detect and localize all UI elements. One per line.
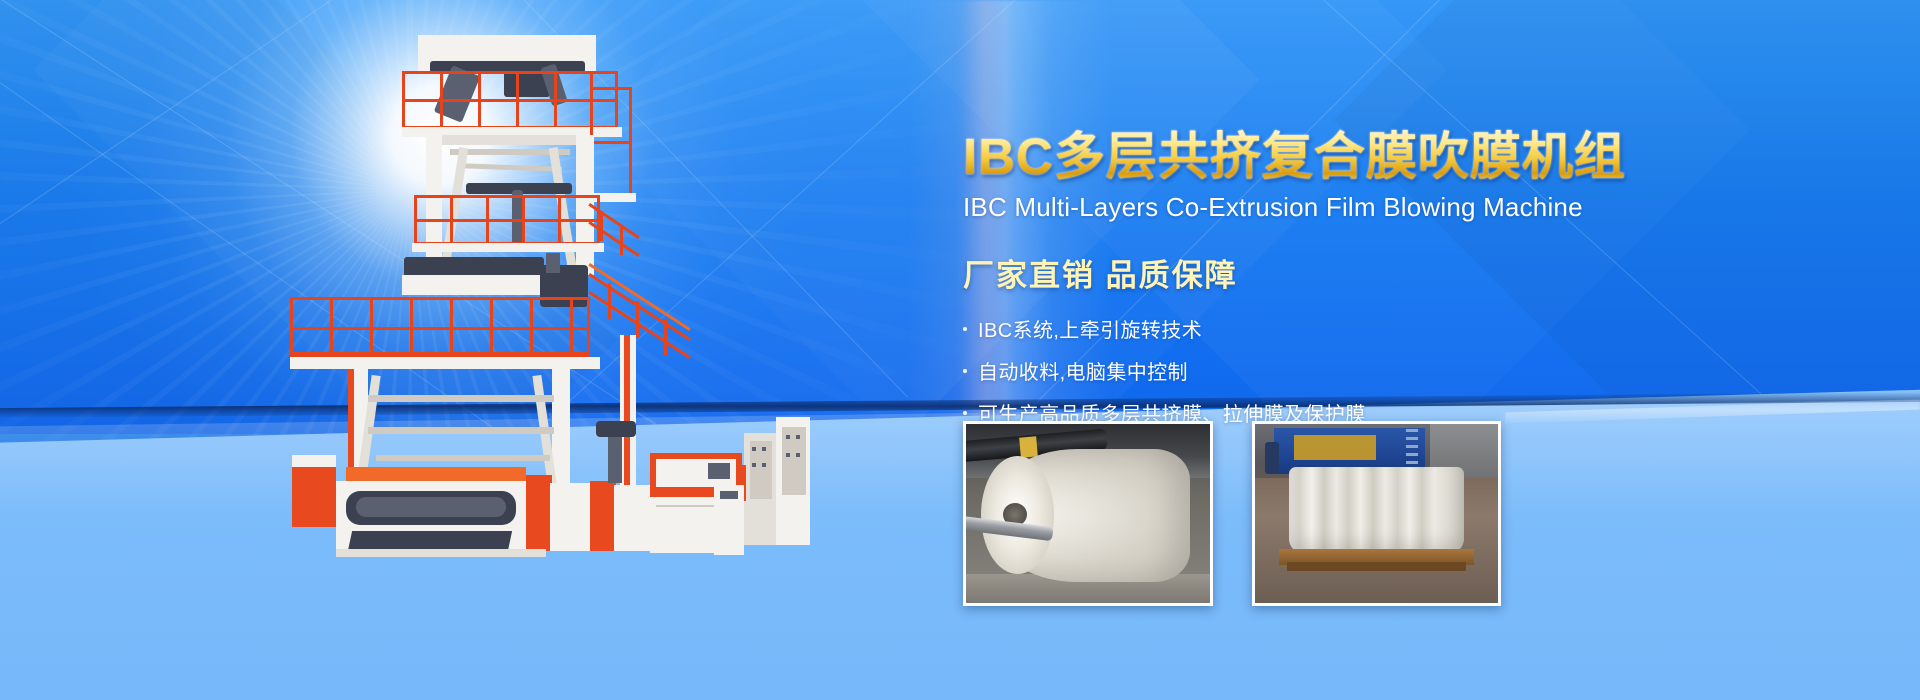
ibc-film-blowing-machine-image (290, 35, 810, 635)
bullet-dot-icon (963, 369, 967, 373)
headline-chinese: IBC多层共挤复合膜吹膜机组 (963, 128, 1663, 185)
product-photo-pallet-rolls (1252, 421, 1501, 606)
bullet-dot-icon (963, 327, 967, 331)
headline-english: IBC Multi-Layers Co-Extrusion Film Blowi… (963, 192, 1663, 223)
title-wrapper: IBC多层共挤复合膜吹膜机组 IBC多层共挤复合膜吹膜机组 (963, 128, 1663, 185)
tagline: 厂家直销 品质保障 (963, 250, 1663, 295)
bullet-dot-icon (963, 411, 967, 415)
product-banner: IBC多层共挤复合膜吹膜机组 IBC多层共挤复合膜吹膜机组 IBC Multi-… (0, 0, 1920, 700)
feature-list: IBC系统,上牵引旋转技术 自动收料,电脑集中控制 可生产高品质多层共挤膜、拉伸… (963, 314, 1663, 427)
list-item: 自动收料,电脑集中控制 (963, 356, 1663, 385)
feature-text: 自动收料,电脑集中控制 (978, 356, 1188, 385)
feature-text: IBC系统,上牵引旋转技术 (978, 314, 1202, 343)
banner-copy: IBC多层共挤复合膜吹膜机组 IBC多层共挤复合膜吹膜机组 IBC Multi-… (963, 128, 1663, 440)
list-item: IBC系统,上牵引旋转技术 (963, 314, 1663, 343)
product-photo-film-roll (963, 421, 1213, 606)
